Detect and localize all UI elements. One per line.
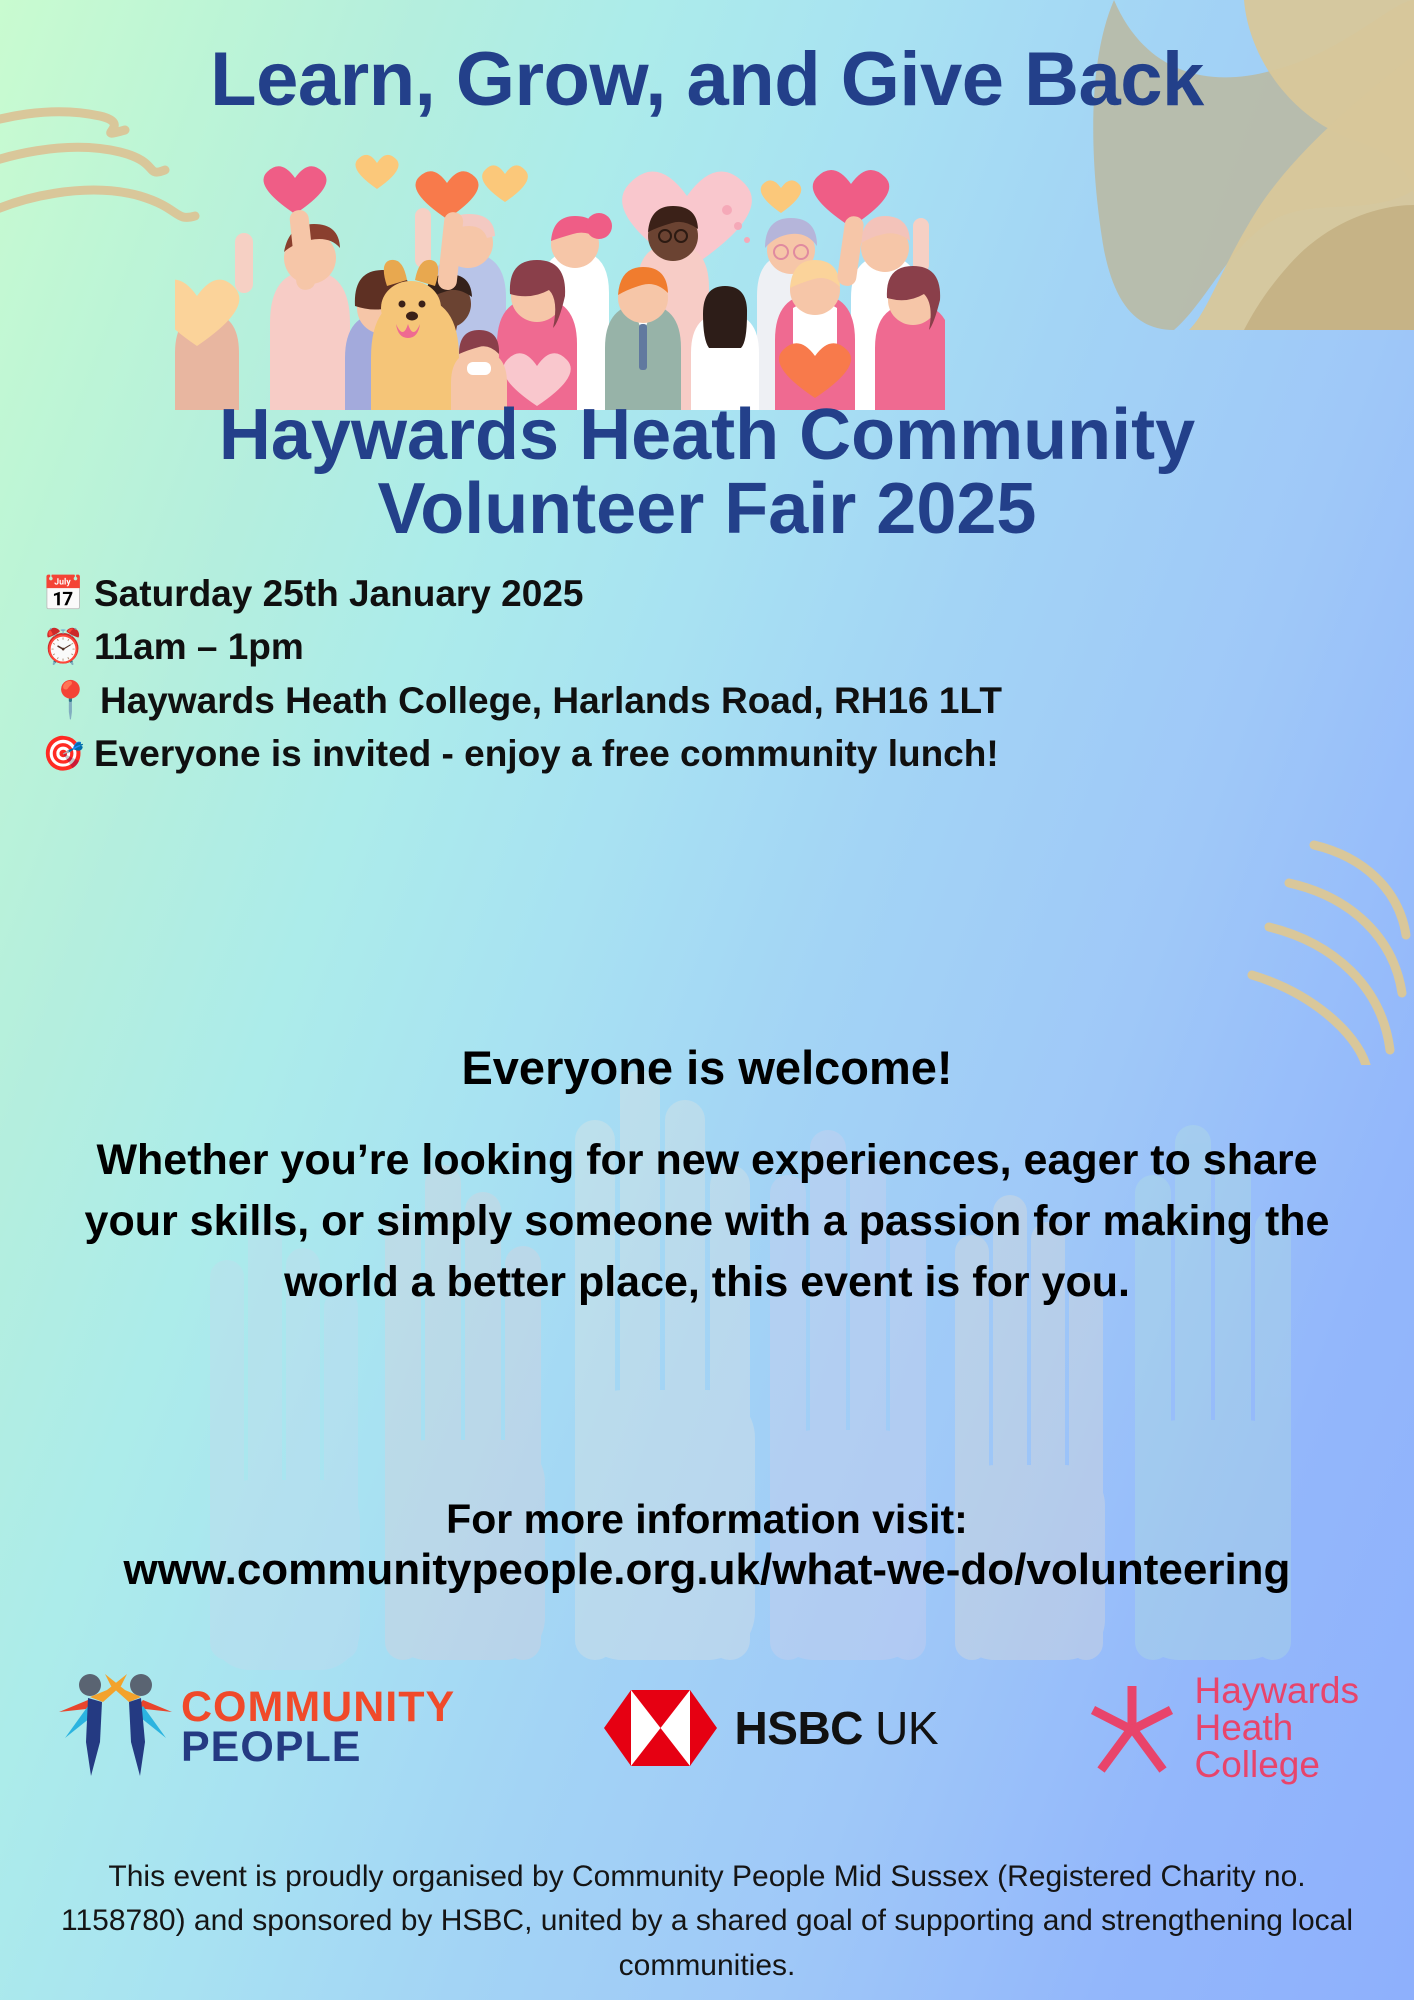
page-headline: Learn, Grow, and Give Back [0, 36, 1414, 123]
community-people-figures-icon [55, 1668, 173, 1788]
hhc-line3: College [1194, 1746, 1359, 1783]
hsbc-logo: HSBC UK [603, 1688, 939, 1768]
crowd-of-people-illustration [175, 148, 945, 410]
detail-row-date: 📅 Saturday 25th January 2025 [42, 570, 1388, 617]
event-details-list: 📅 Saturday 25th January 2025 ⏰ 11am – 1p… [42, 570, 1388, 783]
footer-disclaimer: This event is proudly organised by Commu… [45, 1855, 1369, 1988]
wavy-arcs-decor-right [1234, 835, 1414, 1065]
alarm-clock-icon: ⏰ [42, 630, 94, 664]
poster-canvas: Learn, Grow, and Give Back [0, 0, 1414, 2000]
community-people-line2: PEOPLE [181, 1728, 455, 1768]
detail-text-location: Haywards Heath College, Harlands Road, R… [100, 677, 1002, 724]
hhc-line1: Haywards [1194, 1672, 1359, 1709]
detail-row-location: 📍 Haywards Heath College, Harlands Road,… [42, 677, 1388, 724]
haywards-heath-college-wordmark: Haywards Heath College [1194, 1672, 1359, 1783]
detail-row-invitation: 🎯 Everyone is invited - enjoy a free com… [42, 730, 1388, 777]
body-paragraph: Whether you’re looking for new experienc… [75, 1130, 1339, 1313]
detail-text-invitation: Everyone is invited - enjoy a free commu… [94, 730, 999, 777]
hsbc-region-text: UK [875, 1702, 938, 1754]
target-dart-icon: 🎯 [42, 737, 94, 771]
haywards-heath-college-logo: Haywards Heath College [1085, 1672, 1359, 1783]
website-url[interactable]: www.communitypeople.org.uk/what-we-do/vo… [0, 1545, 1414, 1595]
hsbc-hexagon-icon [603, 1688, 718, 1768]
detail-row-time: ⏰ 11am – 1pm [42, 623, 1388, 670]
hsbc-brand-text: HSBC [735, 1702, 863, 1754]
location-pin-icon: 📍 [42, 682, 100, 718]
page-title: Haywards Heath Community Volunteer Fair … [0, 398, 1414, 546]
sponsor-logos-row: COMMUNITY PEOPLE HSBC UK [0, 1640, 1414, 1815]
community-people-logo: COMMUNITY PEOPLE [55, 1668, 455, 1788]
calendar-icon: 📅 [42, 577, 94, 611]
detail-text-time: 11am – 1pm [94, 623, 304, 670]
welcome-heading: Everyone is welcome! [0, 1040, 1414, 1095]
community-people-line1: COMMUNITY [181, 1688, 455, 1728]
asterisk-star-icon [1085, 1678, 1180, 1778]
hhc-line2: Heath [1194, 1709, 1359, 1746]
more-info-label: For more information visit: [0, 1490, 1414, 1549]
detail-text-date: Saturday 25th January 2025 [94, 570, 583, 617]
hsbc-wordmark: HSBC UK [735, 1701, 939, 1755]
